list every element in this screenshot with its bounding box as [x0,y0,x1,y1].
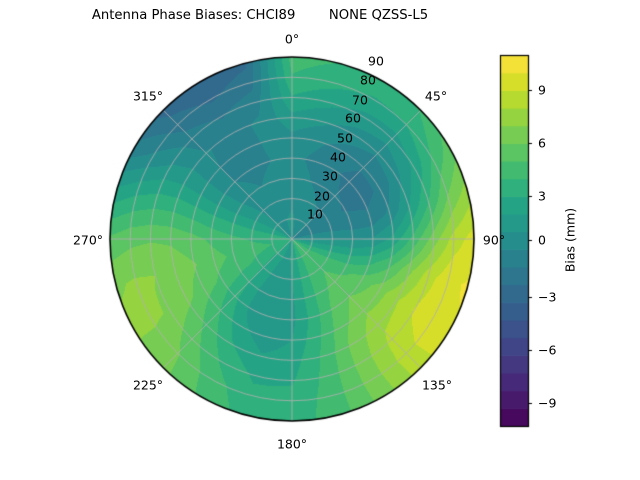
radial-tick-label: 40 [330,150,346,165]
page-title: Antenna Phase Biases: CHCI89 NONE QZSS-L… [0,8,520,23]
radial-tick-label: 50 [337,131,353,146]
figure-canvas-root: Antenna Phase Biases: CHCI89 NONE QZSS-L… [0,0,640,480]
radial-tick-label: 90 [368,54,384,69]
radial-tick-label: 10 [307,207,323,222]
azimuth-tick-label: 270° [73,233,103,248]
azimuth-tick-label: 315° [133,89,163,104]
colorbar-tick-label: 6 [538,136,546,151]
azimuth-tick-label: 45° [425,89,447,104]
colorbar-tick-label: 9 [538,83,546,98]
radial-tick-label: 70 [352,93,368,108]
azimuth-tick-label: 0° [285,32,299,47]
azimuth-tick-label: 180° [277,437,307,452]
colorbar-tick-label: −6 [538,343,556,358]
radial-tick-label: 60 [345,111,361,126]
colorbar-axis-label: Bias (mm) [563,208,578,272]
colorbar-tick-label: 3 [538,189,546,204]
radial-tick-label: 20 [314,189,330,204]
azimuth-tick-label: 225° [133,378,163,393]
radial-tick-label: 30 [322,169,338,184]
azimuth-tick-label: 135° [422,378,452,393]
radial-tick-label: 80 [360,73,376,88]
colorbar-tick-label: −9 [538,396,556,411]
azimuth-tick-label: 90° [483,233,505,248]
colorbar-tick-label: 0 [538,233,546,248]
colorbar-tick-label: −3 [538,290,556,305]
